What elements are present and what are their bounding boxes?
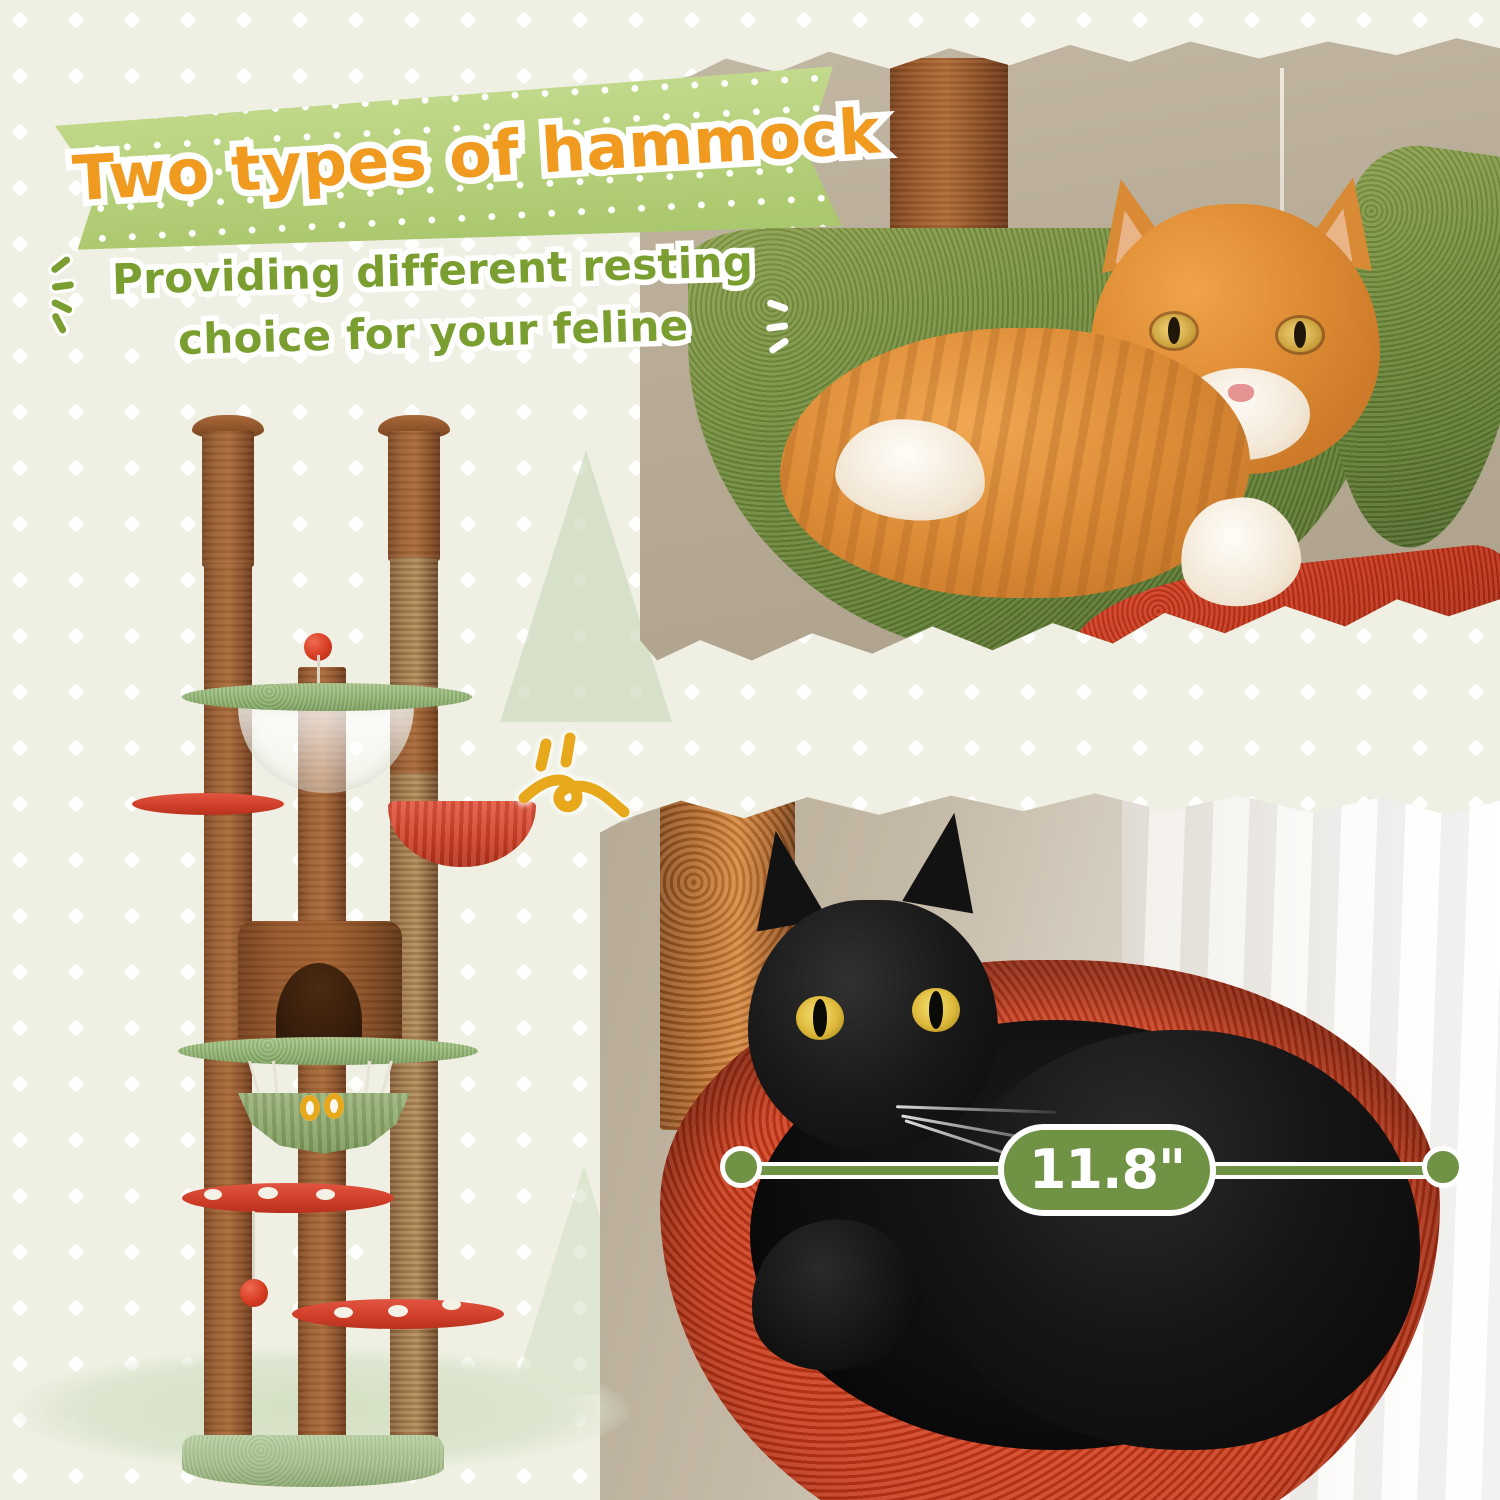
measurement-callout: 11.8" bbox=[712, 1118, 1472, 1214]
mushroom-spot-u3 bbox=[316, 1189, 335, 1200]
red-side-shelf-left bbox=[132, 793, 284, 815]
clear-space-capsule bbox=[238, 701, 414, 793]
mushroom-spot-l2 bbox=[388, 1305, 408, 1317]
mushroom-spot-u2 bbox=[258, 1187, 278, 1199]
dangling-toy-string bbox=[252, 1211, 255, 1283]
mushroom-spot-l3 bbox=[442, 1299, 461, 1310]
cat-black-head bbox=[748, 900, 998, 1150]
mushroom-spot-l1 bbox=[334, 1307, 353, 1318]
cat-eye-right bbox=[1278, 318, 1322, 352]
measurement-value: 11.8" bbox=[1029, 1143, 1185, 1197]
product-diagram bbox=[120, 415, 560, 1485]
orange-squiggle-doodle bbox=[508, 726, 638, 838]
pole-right-upper bbox=[388, 431, 440, 561]
cat-black-eye-left bbox=[796, 996, 844, 1040]
poster-canvas: Two types of hammock Two types of hammoc… bbox=[0, 0, 1500, 1500]
measurement-badge: 11.8" bbox=[998, 1124, 1216, 1216]
mushroom-spot-u1 bbox=[204, 1189, 222, 1200]
mid-green-platform bbox=[178, 1037, 478, 1065]
cat-eye-left bbox=[1152, 314, 1196, 348]
dangling-ball-toy bbox=[240, 1279, 268, 1307]
measurement-endpoint-right bbox=[1422, 1146, 1464, 1188]
hammock-eye-right bbox=[324, 1093, 344, 1119]
pole-left-upper bbox=[202, 431, 254, 567]
measurement-endpoint-left bbox=[720, 1146, 762, 1188]
cat-nose bbox=[1228, 384, 1254, 402]
green-base-board bbox=[182, 1435, 444, 1487]
cat-black-eye-right bbox=[912, 988, 960, 1032]
hammock-eye-left bbox=[300, 1095, 320, 1121]
top-green-platform bbox=[182, 683, 472, 711]
